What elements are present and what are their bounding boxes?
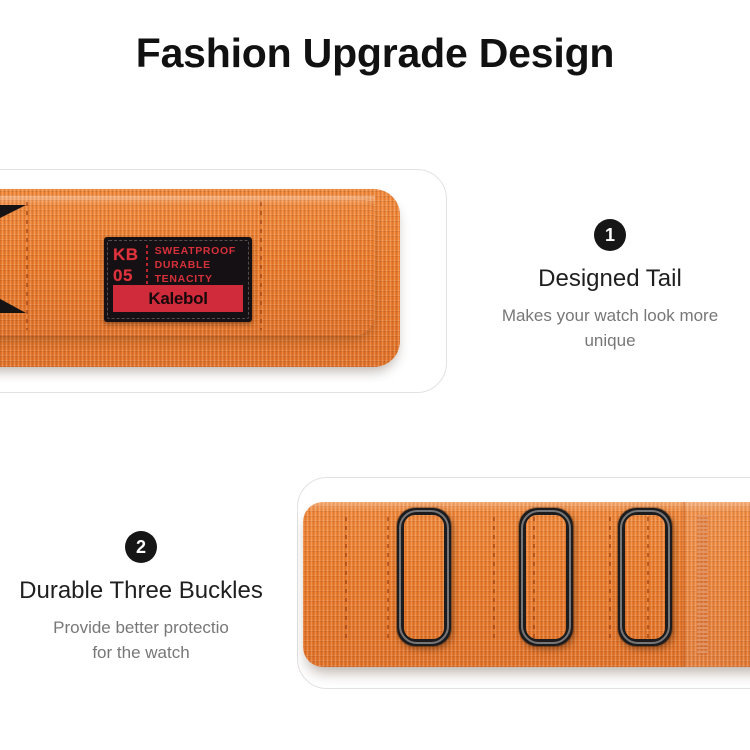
brand-label-top-row: KB 05 SWEATPROOF DURABLE TENACITY <box>113 244 244 288</box>
feature-description-1: Makes your watch look more unique <box>465 303 750 353</box>
buckle-loop-1 <box>397 508 451 646</box>
feature-badge-1: 1 <box>594 219 626 251</box>
brand-label-code: KB 05 <box>113 244 139 286</box>
brand-label-divider <box>146 245 148 287</box>
feature-title-2: Durable Three Buckles <box>0 576 286 606</box>
feature-desc-1-line-2: unique <box>465 328 750 353</box>
feature-title-1: Designed Tail <box>465 264 750 294</box>
feature-block-1: 1 Designed Tail Makes your watch look mo… <box>465 219 750 353</box>
brand-label-claim-3: TENACITY <box>155 272 236 286</box>
brand-label-code-line-1: KB <box>113 244 139 265</box>
seam-stitch-right <box>260 202 262 330</box>
bar-tack-stitch <box>697 515 708 655</box>
feature-description-2: Provide better protectio for the watch <box>0 615 286 665</box>
brand-label-name-bar: Kalebol <box>113 285 243 312</box>
brand-label-claims: SWEATPROOF DURABLE TENACITY <box>155 244 236 286</box>
feature-desc-2-line-1: Provide better protectio <box>0 615 286 640</box>
feature-desc-2-line-2: for the watch <box>0 640 286 665</box>
feature-desc-1-line-1: Makes your watch look more <box>465 303 750 328</box>
buckle-seam-1b <box>387 517 389 639</box>
buckle-seam-3a <box>609 517 611 639</box>
page-title: Fashion Upgrade Design <box>0 30 750 77</box>
brand-name: Kalebol <box>148 289 207 309</box>
buckle-loop-2 <box>519 508 573 646</box>
brand-label-claim-2: DURABLE <box>155 258 236 272</box>
seam-stitch-left <box>26 202 28 330</box>
buckle-seam-2a <box>493 517 495 639</box>
buckle-loop-3 <box>618 508 672 646</box>
feature-block-2: 2 Durable Three Buckles Provide better p… <box>0 531 286 665</box>
product-photo-three-buckles <box>297 477 750 689</box>
brand-label-claim-1: SWEATPROOF <box>155 244 236 258</box>
brand-label-code-line-2: 05 <box>113 265 139 286</box>
strap-overlap-edge <box>683 502 750 667</box>
brand-label: KB 05 SWEATPROOF DURABLE TENACITY Kalebo… <box>104 237 252 322</box>
feature-badge-2: 2 <box>125 531 157 563</box>
buckle-seam-1a <box>345 517 347 639</box>
